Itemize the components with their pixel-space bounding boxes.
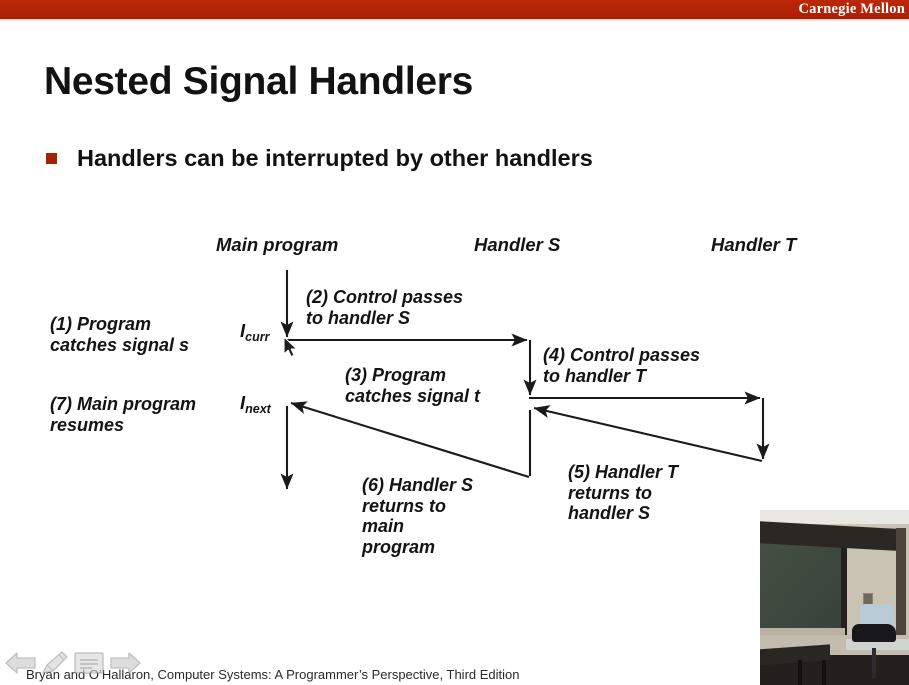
lecture-camera-video[interactable]	[760, 510, 909, 685]
diagram-step-6: (6) Handler S returns to main program	[362, 475, 473, 557]
video-chair-leg	[872, 648, 876, 678]
slide-menu-icon[interactable]	[72, 650, 106, 681]
diagram-step-4: (4) Control passes to handler T	[543, 345, 700, 386]
video-stool-leg-1	[798, 660, 802, 685]
diagram-step-3: (3) Program catches signal t	[345, 365, 480, 406]
diagram-step-5: (5) Handler T returns to handler S	[568, 462, 678, 524]
diagram-step-1: (1) Program catches signal s	[50, 314, 189, 355]
instruction-label-icurr-sub: curr	[245, 330, 269, 344]
arrow-step5-handler-t-to-handler-s	[534, 408, 762, 461]
column-header-handler-t: Handler T	[711, 234, 796, 255]
slide-canvas: Carnegie Mellon Nested Signal Handlers H…	[0, 0, 909, 685]
brand-title: Carnegie Mellon	[799, 1, 906, 18]
page-title: Nested Signal Handlers	[44, 60, 473, 104]
brand-bar-shadow	[0, 19, 909, 22]
video-stool-leg-2	[822, 660, 826, 685]
diagram-step-7: (7) Main program resumes	[50, 394, 196, 435]
arrow-step6-handler-s-to-main	[291, 403, 529, 477]
video-wall-column	[896, 528, 906, 646]
column-header-handler-s: Handler S	[474, 234, 560, 255]
arrow-right-icon[interactable]	[108, 650, 142, 681]
video-chalkboard	[760, 540, 841, 628]
bullet-item: Handlers can be interrupted by other han…	[46, 145, 593, 172]
column-header-main-program: Main program	[216, 234, 338, 255]
instruction-label-icurr: Icurr	[240, 320, 269, 341]
diagram-step-2: (2) Control passes to handler S	[306, 287, 463, 328]
presentation-nav-controls	[4, 650, 142, 681]
bullet-item-label: Handlers can be interrupted by other han…	[77, 145, 593, 172]
mouse-cursor	[283, 336, 300, 365]
bullet-square-icon	[46, 153, 57, 164]
instruction-label-inext: Inext	[240, 392, 271, 413]
video-bag	[852, 624, 896, 642]
instruction-label-inext-sub: next	[245, 402, 271, 416]
brand-bar: Carnegie Mellon	[0, 0, 909, 19]
pen-icon[interactable]	[40, 650, 70, 681]
arrow-left-icon[interactable]	[4, 650, 38, 681]
video-chalk-tray	[760, 628, 845, 635]
